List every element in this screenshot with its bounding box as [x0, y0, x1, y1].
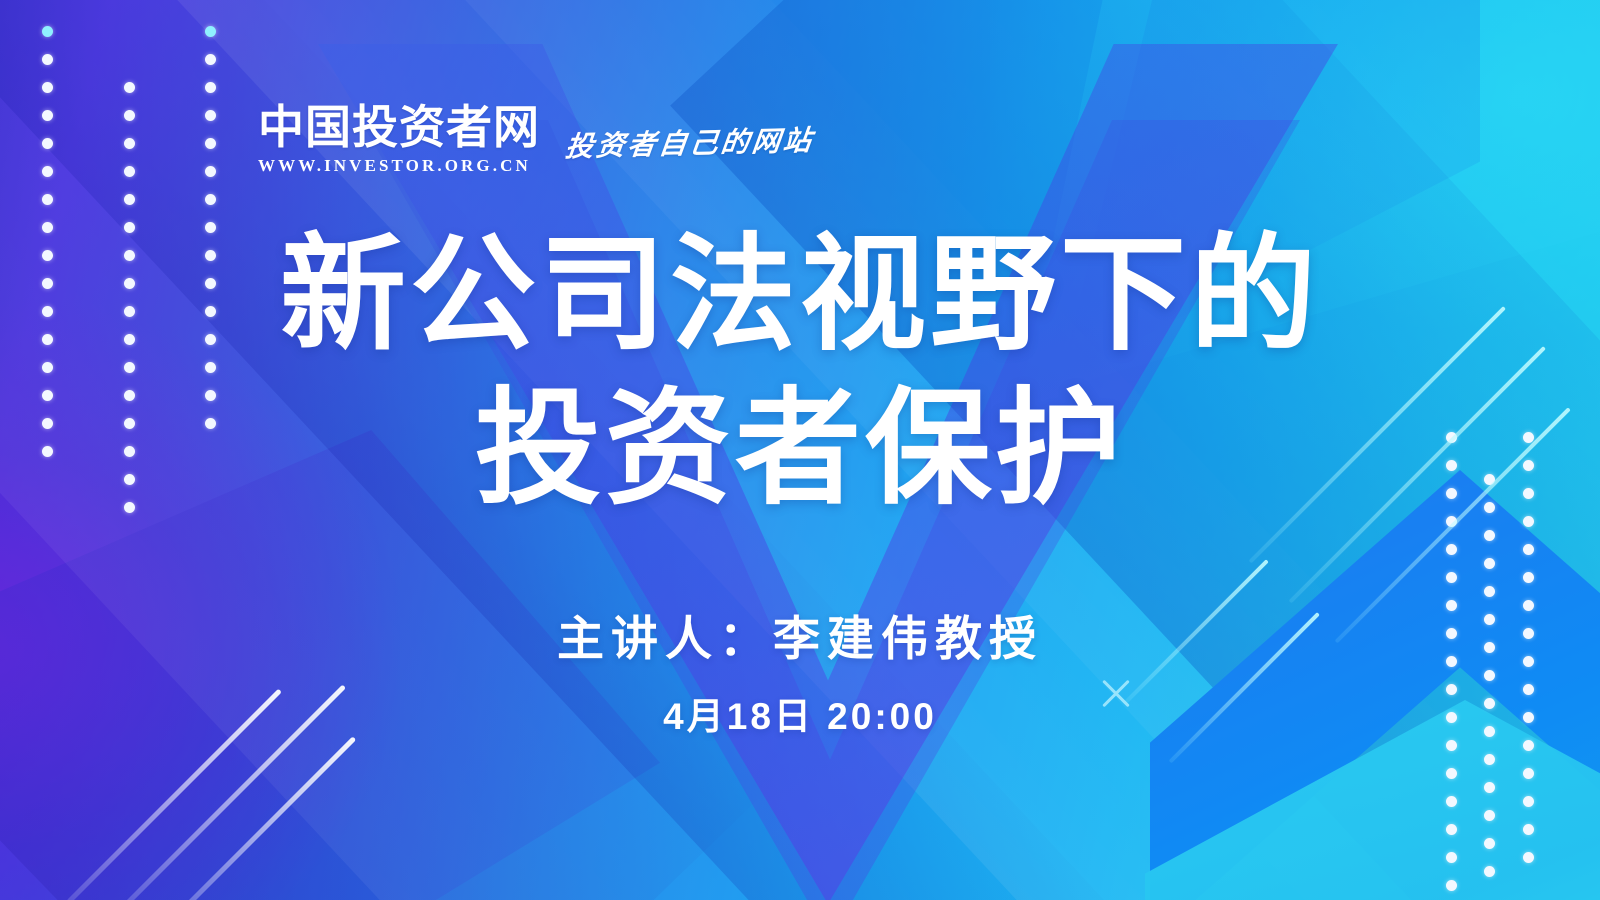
dot-icon [1484, 810, 1495, 821]
dot-icon [1523, 572, 1534, 583]
dot-icon [1484, 838, 1495, 849]
site-logo[interactable]: 中国投资者网 WWW.INVESTOR.ORG.CN 投资者自己的网站 [258, 104, 814, 176]
dot-icon [1484, 586, 1495, 597]
dot-icon [205, 26, 216, 37]
dot-icon [42, 166, 53, 177]
dot-icon [1523, 852, 1534, 863]
dot-icon [42, 138, 53, 149]
dot-icon [205, 82, 216, 93]
speaker-text: 主讲人：李建伟教授 [0, 600, 1600, 669]
dot-icon [205, 138, 216, 149]
dot-icon [1523, 544, 1534, 555]
dot-icon [1484, 866, 1495, 877]
headline-line-1: 新公司法视野下的 [0, 218, 1600, 372]
datetime-text: 4月18日 20:00 [0, 686, 1600, 740]
dot-icon [124, 110, 135, 121]
logo-name: 中国投资者网 [258, 104, 540, 151]
dot-icon [42, 82, 53, 93]
logo-tagline: 投资者自己的网站 [563, 119, 816, 165]
dot-icon [42, 194, 53, 205]
dot-icon [205, 166, 216, 177]
dot-icon [1446, 572, 1457, 583]
dot-icon [205, 54, 216, 65]
logo-primary: 中国投资者网 WWW.INVESTOR.ORG.CN [258, 104, 540, 176]
dot-icon [124, 82, 135, 93]
dot-icon [1446, 852, 1457, 863]
dot-icon [1446, 824, 1457, 835]
dot-icon [205, 194, 216, 205]
dot-icon [1446, 880, 1457, 891]
dot-icon [205, 110, 216, 121]
dot-icon [1523, 824, 1534, 835]
dot-icon [1484, 558, 1495, 569]
dot-icon [1446, 796, 1457, 807]
headline-line-2: 投资者保护 [0, 372, 1600, 526]
dot-icon [42, 54, 53, 65]
dot-icon [124, 138, 135, 149]
dot-icon [124, 166, 135, 177]
promo-banner: 中国投资者网 WWW.INVESTOR.ORG.CN 投资者自己的网站 新公司法… [0, 0, 1600, 900]
dot-icon [42, 110, 53, 121]
dot-icon [42, 26, 53, 37]
dot-icon [1484, 670, 1495, 681]
dot-icon [124, 194, 135, 205]
dot-icon [1446, 768, 1457, 779]
dot-icon [1523, 740, 1534, 751]
dot-icon [1484, 754, 1495, 765]
dot-icon [1523, 796, 1534, 807]
dot-icon [1446, 740, 1457, 751]
dot-icon [1484, 530, 1495, 541]
dot-icon [1523, 768, 1534, 779]
headline-block: 新公司法视野下的 投资者保护 [0, 218, 1600, 525]
logo-website: WWW.INVESTOR.ORG.CN [258, 156, 540, 176]
dot-icon [1484, 782, 1495, 793]
dot-icon [1446, 544, 1457, 555]
